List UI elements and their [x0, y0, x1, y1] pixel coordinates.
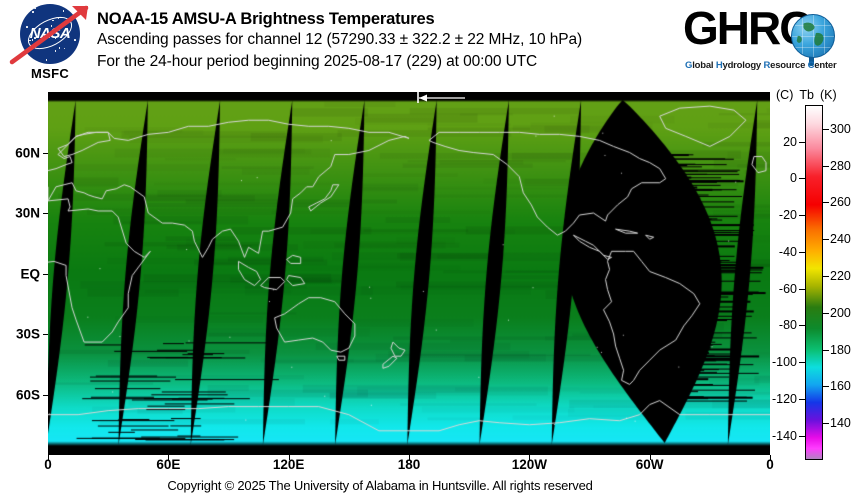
- colorbar-label-celsius: -120: [757, 392, 797, 406]
- colorbar-tick-kelvin: [823, 202, 829, 203]
- y-axis-tick: [43, 274, 48, 275]
- y-axis-tick: [43, 395, 48, 396]
- x-axis-label: 120W: [512, 457, 547, 472]
- colorbar-label-kelvin: 200: [830, 306, 851, 320]
- nasa-swoosh-icon: [6, 2, 94, 66]
- colorbar-label-celsius: -20: [757, 208, 797, 222]
- colorbar-label-celsius: 0: [757, 171, 797, 185]
- colorbar-tick-kelvin: [823, 166, 829, 167]
- x-axis-label: 120E: [273, 457, 305, 472]
- colorbar-label-kelvin: 280: [830, 159, 851, 173]
- colorbar-label-kelvin: 140: [830, 416, 851, 430]
- colorbar-tick-celsius: [799, 252, 805, 253]
- ghrc-logo: GHRC Global Hydrology Resource Center: [683, 8, 849, 78]
- x-axis-label: 0: [44, 457, 52, 472]
- colorbar-tick-celsius: [799, 178, 805, 179]
- colorbar-tick-kelvin: [823, 313, 829, 314]
- globe-landmass: [792, 15, 834, 57]
- colorbar-tick-kelvin: [823, 276, 829, 277]
- y-axis-label: EQ: [0, 266, 40, 281]
- colorbar-tick-kelvin: [823, 350, 829, 351]
- colorbar-label-celsius: -140: [757, 429, 797, 443]
- colorbar-tick-kelvin: [823, 129, 829, 130]
- colorbar-label: Tb: [799, 88, 814, 102]
- colorbar-label-kelvin: 300: [830, 122, 851, 136]
- colorbar-tick-kelvin: [823, 423, 829, 424]
- colorbar: [805, 105, 823, 460]
- colorbar-label-kelvin: 220: [830, 269, 851, 283]
- nasa-logo: NASA MSFC: [8, 4, 92, 86]
- colorbar-label-celsius: -100: [757, 355, 797, 369]
- colorbar-tick-celsius: [799, 215, 805, 216]
- x-axis-label: 60E: [156, 457, 180, 472]
- swath-direction-marker-icon: [403, 92, 473, 103]
- colorbar-label-kelvin: 240: [830, 232, 851, 246]
- colorbar-label-celsius: 20: [757, 135, 797, 149]
- colorbar-unit-celsius: (C): [776, 88, 793, 102]
- colorbar-label-celsius: -40: [757, 245, 797, 259]
- colorbar-tick-celsius: [799, 399, 805, 400]
- y-axis-label: 60S: [0, 387, 40, 402]
- x-axis-label: 0: [766, 457, 774, 472]
- y-axis-label: 30N: [0, 206, 40, 221]
- colorbar-tick-celsius: [799, 289, 805, 290]
- y-axis-tick: [43, 153, 48, 154]
- colorbar-label-celsius: -60: [757, 282, 797, 296]
- colorbar-unit-kelvin: (K): [820, 88, 837, 102]
- map-plot: [48, 92, 770, 455]
- header-titles: NOAA-15 AMSU-A Brightness Temperatures A…: [97, 9, 697, 73]
- colorbar-header: (C)Tb(K): [776, 88, 837, 102]
- copyright-notice: Copyright © 2025 The University of Alaba…: [0, 478, 760, 493]
- y-axis-tick: [43, 334, 48, 335]
- colorbar-tick-celsius: [799, 436, 805, 437]
- colorbar-label-kelvin: 160: [830, 379, 851, 393]
- page-title: NOAA-15 AMSU-A Brightness Temperatures: [97, 9, 697, 29]
- colorbar-tick-kelvin: [823, 386, 829, 387]
- colorbar-label-celsius: -80: [757, 318, 797, 332]
- colorbar-tick-celsius: [799, 142, 805, 143]
- x-axis-label: 180: [398, 457, 421, 472]
- subtitle-channel: Ascending passes for channel 12 (57290.3…: [97, 29, 697, 51]
- msfc-label: MSFC: [8, 66, 92, 81]
- colorbar-label-kelvin: 260: [830, 195, 851, 209]
- figure-page: NASA MSFC NOAA-15 AMSU-A Brightness Temp…: [0, 0, 854, 502]
- y-axis-label: 60N: [0, 145, 40, 160]
- globe-icon: [791, 14, 835, 58]
- y-axis-tick: [43, 213, 48, 214]
- subtitle-period: For the 24-hour period beginning 2025-08…: [97, 51, 697, 73]
- y-axis-label: 30S: [0, 327, 40, 342]
- brightness-temperature-map: [48, 92, 770, 455]
- colorbar-tick-celsius: [799, 362, 805, 363]
- colorbar-label-kelvin: 180: [830, 343, 851, 357]
- colorbar-tick-celsius: [799, 325, 805, 326]
- x-axis-label: 60W: [636, 457, 664, 472]
- ghrc-subtitle: Global Hydrology Resource Center: [685, 60, 837, 71]
- colorbar-tick-kelvin: [823, 239, 829, 240]
